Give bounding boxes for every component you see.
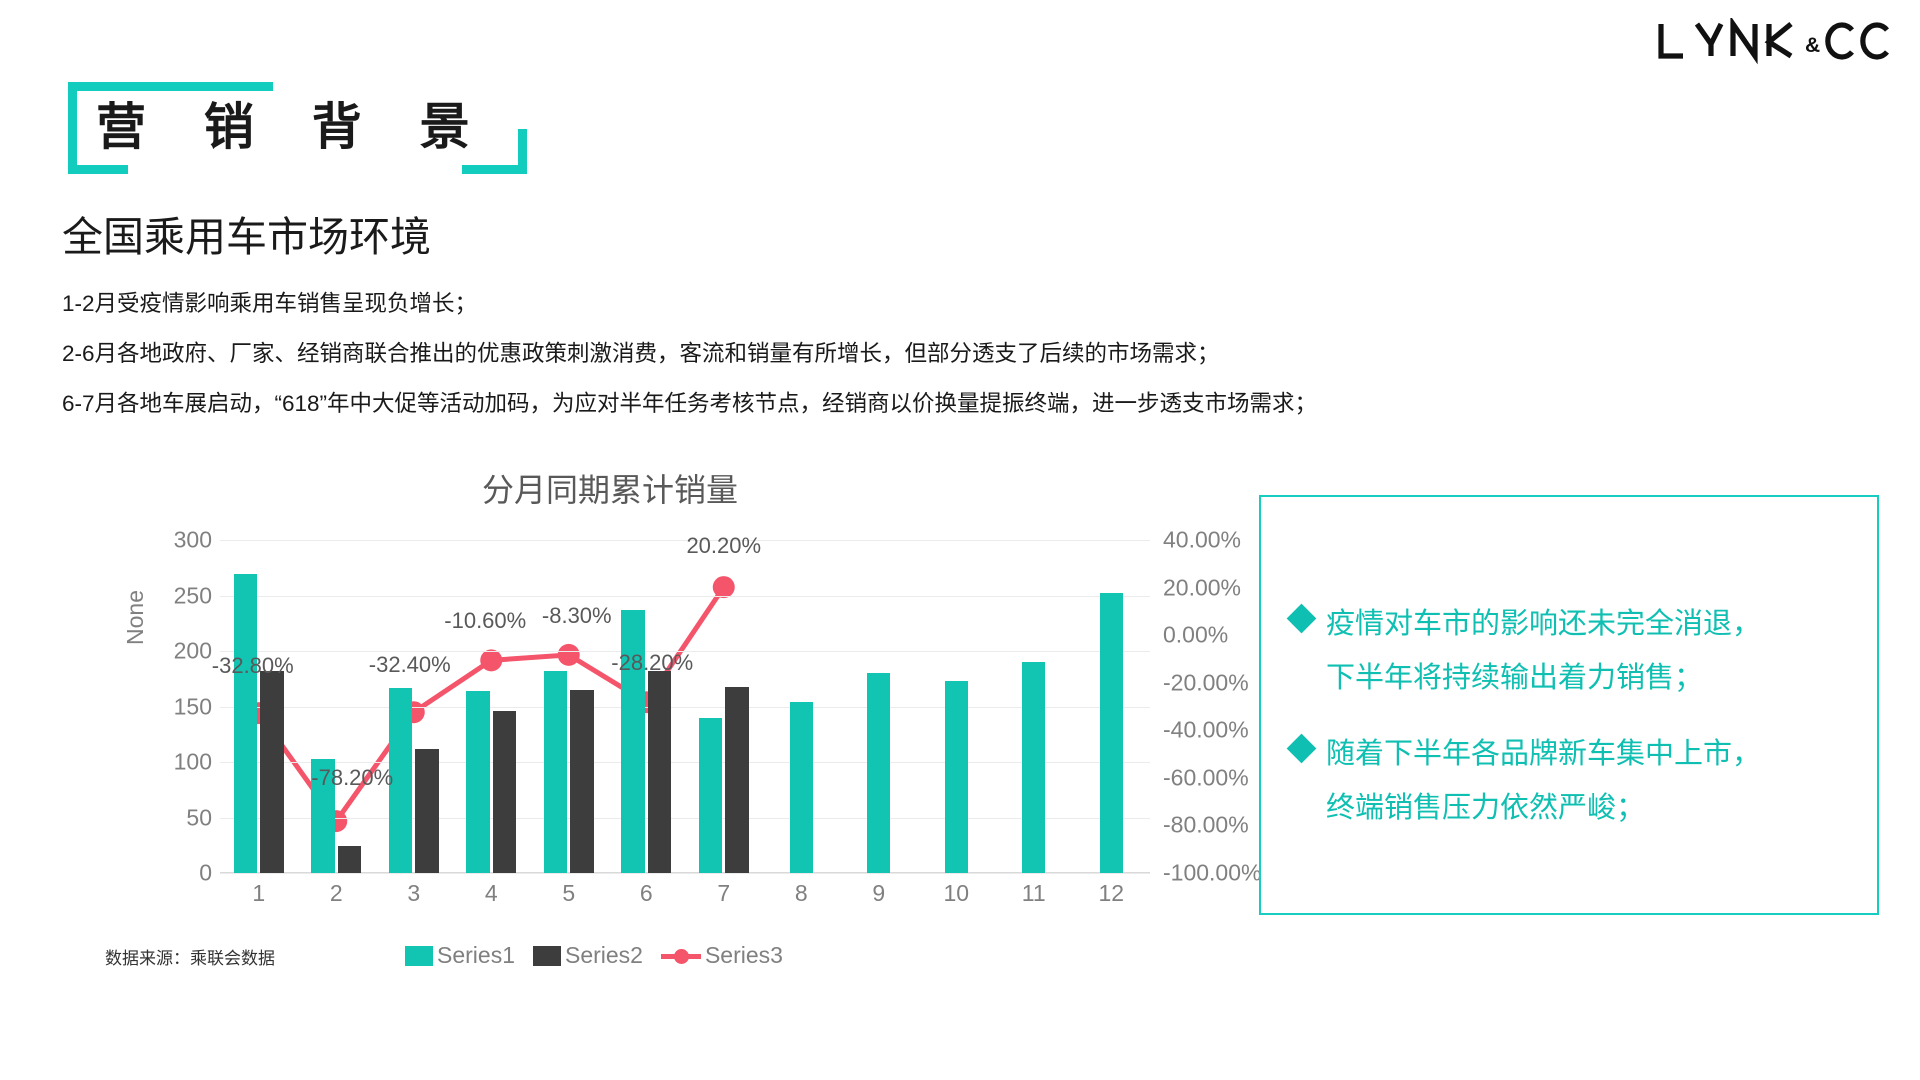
chart-x-tick: 10 [943, 880, 969, 907]
insight-bullet-text: 疫情对车市的影响还未完全消退，下半年将持续输出着力销售； [1326, 597, 1761, 705]
chart-x-axis: 123456789101112 [220, 880, 1150, 914]
legend-label-series3: Series3 [705, 942, 783, 969]
legend-label-series1: Series1 [437, 942, 515, 969]
chart-bar-series2 [493, 711, 516, 873]
chart-bar-series1 [699, 718, 722, 873]
insight-callout-box: 疫情对车市的影响还未完全消退，下半年将持续输出着力销售；随着下半年各品牌新车集中… [1259, 495, 1879, 915]
chart-bar-series1 [790, 702, 813, 873]
chart-x-tick: 7 [717, 880, 730, 907]
chart-y-tick-right: -40.00% [1163, 717, 1249, 744]
chart-gridline [220, 596, 1150, 597]
chart-y-tick-right: -100.00% [1163, 860, 1261, 887]
legend-swatch-series3 [661, 946, 701, 966]
chart-line-marker [480, 649, 502, 671]
chart-bar-series1 [867, 673, 890, 873]
sales-chart: 分月同期累计销量 None 050100150200250300 40.00%2… [60, 465, 1220, 965]
section-title-block: 营 销 背 景 [68, 82, 488, 174]
chart-bar-series1 [945, 681, 968, 873]
chart-y-tick-right: 20.00% [1163, 574, 1241, 601]
insight-bullet-text: 随着下半年各品牌新车集中上市，终端销售压力依然严峻； [1326, 727, 1761, 835]
chart-x-tick: 4 [485, 880, 498, 907]
bracket-bottom-right [462, 165, 527, 174]
chart-x-tick: 12 [1098, 880, 1124, 907]
diamond-bullet-icon [1287, 604, 1317, 634]
body-line-2: 2-6月各地政府、厂家、经销商联合推出的优惠政策刺激消费，客流和销量有所增长，但… [62, 329, 1822, 379]
chart-data-label-series3: -32.80% [212, 653, 294, 679]
chart-y-tick-left: 50 [186, 804, 212, 831]
chart-line-marker [558, 644, 580, 666]
chart-y-tick-left: 150 [174, 693, 212, 720]
logo-ampersand: & [1805, 34, 1820, 57]
legend-item-series3[interactable]: Series3 [661, 942, 783, 969]
chart-bar-series2 [570, 690, 593, 873]
chart-bar-series2 [415, 749, 438, 873]
chart-bar-series2 [260, 671, 283, 873]
chart-y-axis-label: None [122, 590, 149, 645]
sub-heading: 全国乘用车市场环境 [62, 203, 431, 263]
bracket-top [68, 82, 273, 91]
chart-x-tick: 2 [330, 880, 343, 907]
chart-x-tick: 9 [872, 880, 885, 907]
chart-y-tick-right: 0.00% [1163, 622, 1228, 649]
section-title: 营 销 背 景 [96, 92, 492, 162]
chart-data-label-series3: -10.60% [444, 608, 526, 634]
insight-bullet-line: 下半年将持续输出着力销售； [1326, 651, 1761, 705]
chart-x-tick: 8 [795, 880, 808, 907]
bracket-left [68, 82, 77, 174]
bracket-bottom-left [68, 165, 128, 174]
chart-bar-series2 [725, 687, 748, 873]
chart-y-tick-left: 100 [174, 749, 212, 776]
chart-bar-series2 [338, 846, 361, 873]
chart-bar-series1 [234, 574, 257, 873]
chart-gridline [220, 707, 1150, 708]
legend-item-series2[interactable]: Series2 [533, 942, 643, 969]
chart-x-tick: 5 [562, 880, 575, 907]
chart-bar-series2 [648, 671, 671, 873]
insight-bullet-item: 疫情对车市的影响还未完全消退，下半年将持续输出着力销售； [1291, 597, 1871, 705]
chart-legend: Series1 Series2 Series3 [405, 942, 797, 969]
chart-data-label-series3: -32.40% [369, 652, 451, 678]
chart-source-note: 数据来源：乘联会数据 [105, 944, 275, 969]
chart-gridline [220, 540, 1150, 541]
insight-callout-list: 疫情对车市的影响还未完全消退，下半年将持续输出着力销售；随着下半年各品牌新车集中… [1291, 597, 1871, 857]
chart-data-label-series3: -8.30% [542, 603, 612, 629]
insight-bullet-line: 疫情对车市的影响还未完全消退， [1326, 597, 1761, 651]
chart-y-tick-right: 40.00% [1163, 527, 1241, 554]
chart-data-label-series3: -78.20% [311, 765, 393, 791]
legend-swatch-series2 [533, 946, 561, 966]
diamond-bullet-icon [1287, 734, 1317, 764]
chart-title: 分月同期累计销量 [60, 465, 1160, 511]
body-line-1: 1-2月受疫情影响乘用车销售呈现负增长； [62, 279, 1822, 329]
chart-y-tick-left: 250 [174, 582, 212, 609]
chart-y-tick-right: -60.00% [1163, 764, 1249, 791]
chart-bar-series1 [544, 671, 567, 873]
lynk-co-logo: & [1655, 18, 1905, 68]
legend-item-series1[interactable]: Series1 [405, 942, 515, 969]
chart-y-tick-left: 300 [174, 527, 212, 554]
chart-bar-series1 [466, 691, 489, 873]
chart-gridline [220, 762, 1150, 763]
insight-bullet-line: 随着下半年各品牌新车集中上市， [1326, 727, 1761, 781]
chart-y-axis-left: 050100150200250300 [150, 540, 212, 873]
chart-x-tick: 3 [407, 880, 420, 907]
chart-x-tick: 6 [640, 880, 653, 907]
chart-gridline [220, 818, 1150, 819]
chart-y-tick-left: 0 [199, 860, 212, 887]
legend-label-series2: Series2 [565, 942, 643, 969]
insight-bullet-item: 随着下半年各品牌新车集中上市，终端销售压力依然严峻； [1291, 727, 1871, 835]
chart-plot-area: -32.80%-78.20%-32.40%-10.60%-8.30%-28.20… [220, 540, 1150, 873]
chart-y-tick-left: 200 [174, 638, 212, 665]
chart-x-tick: 11 [1022, 880, 1046, 907]
body-line-3: 6-7月各地车展启动，“618”年中大促等活动加码，为应对半年任务考核节点，经销… [62, 379, 1822, 429]
legend-swatch-series1 [405, 946, 433, 966]
lynk-co-logo-mark: & [1655, 18, 1905, 68]
slide-root: & 营 销 背 景 全国乘用车市场环境 1-2月受疫情影响乘用车销售呈现负增长；… [0, 0, 1920, 1080]
insight-bullet-line: 终端销售压力依然严峻； [1326, 781, 1761, 835]
chart-y-tick-right: -20.00% [1163, 669, 1249, 696]
chart-data-label-series3: 20.20% [686, 533, 761, 559]
chart-bar-series1 [1022, 662, 1045, 873]
chart-y-tick-right: -80.00% [1163, 812, 1249, 839]
chart-data-label-series3: -28.20% [611, 650, 693, 676]
chart-x-tick: 1 [252, 880, 265, 907]
chart-gridline [220, 873, 1150, 874]
body-text-block: 1-2月受疫情影响乘用车销售呈现负增长； 2-6月各地政府、厂家、经销商联合推出… [62, 279, 1822, 429]
chart-bar-series1 [1100, 593, 1123, 873]
